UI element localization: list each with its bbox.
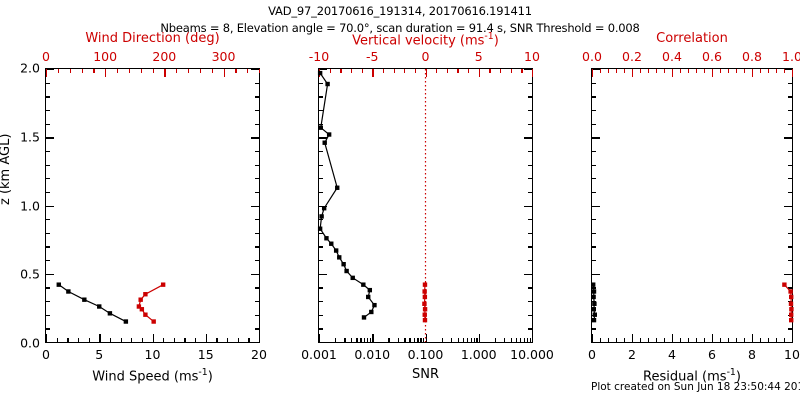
x-tick-label-top: 0.0 [582,49,602,64]
data-point-marker [151,319,155,323]
data-point-marker [789,307,793,311]
data-point-marker [341,262,345,266]
x-axis-tick-bottom [259,334,260,342]
y-axis-label: z (km AGL) [0,134,13,205]
x-tick-label-top: 200 [152,49,176,64]
data-point-marker [789,313,793,317]
x-tick-label-top: 10 [524,49,540,64]
data-point-marker [592,307,596,311]
y-axis-tick [319,342,327,343]
plot-title-line-1: VAD_97_20170616_191314, 20170616.191411 [0,4,800,18]
x-axis-tick-top [792,69,793,77]
y-axis-tick [524,342,532,343]
y-tick-label: 0.5 [2,267,40,282]
x-tick-label-bottom: 10.000 [510,347,554,362]
data-point-marker [124,319,128,323]
data-point-marker [66,289,70,293]
data-point-marker [143,292,147,296]
y-axis-tick [46,342,54,343]
x-axis-title-top: Wind Direction (deg) [45,31,260,46]
panel-residual [591,68,793,343]
y-axis-tick [784,342,792,343]
x-tick-label-bottom: 0.001 [301,347,337,362]
x-axis-title-bottom: SNR [318,367,533,382]
y-tick-label: 2.0 [2,61,40,76]
x-tick-label-top: 0.6 [702,49,722,64]
data-point-marker [325,82,329,86]
x-axis-title-bottom: Wind Speed (ms-1) [45,367,260,384]
data-point-marker [319,214,323,218]
data-point-marker [372,303,376,307]
data-point-marker [161,282,165,286]
data-point-marker [82,297,86,301]
y-axis-tick [251,342,259,343]
data-point-marker [423,307,427,311]
x-axis-title-top: Correlation [591,31,793,46]
plot-area-residual [592,69,792,342]
data-point-marker [319,125,323,129]
x-tick-label-top: -10 [309,49,329,64]
x-tick-label-top: 0.2 [622,49,642,64]
data-point-marker [423,313,427,317]
data-point-marker [592,289,596,293]
y-tick-label: 1.5 [2,129,40,144]
y-axis-tick [592,342,600,343]
data-point-marker [593,313,597,317]
data-point-marker [368,288,372,292]
data-point-marker [366,295,370,299]
data-point-marker [422,302,426,306]
x-tick-label-bottom: 10 [784,347,800,362]
series-line [320,73,374,317]
data-point-marker [108,311,112,315]
x-tick-label-bottom: 10 [145,347,161,362]
data-point-marker [143,313,147,317]
x-tick-label-bottom: 1.000 [461,347,497,362]
x-tick-label-top: 300 [212,49,236,64]
x-tick-label-bottom: 5 [95,347,103,362]
x-tick-label-top: 100 [93,49,117,64]
data-point-marker [324,236,328,240]
data-point-marker [362,315,366,319]
x-tick-label-top: 1.0 [782,49,800,64]
data-point-marker [423,318,427,322]
x-tick-label-top: 5 [475,49,483,64]
x-axis-tick-bottom [792,334,793,342]
data-point-marker [329,242,333,246]
series-canvas [319,69,532,342]
x-axis-tick-bottom [532,334,533,342]
data-point-marker [351,276,355,280]
x-tick-label-bottom: 0.010 [354,347,390,362]
x-axis-tick-top [259,69,260,73]
data-point-marker [789,295,793,299]
data-point-marker [318,227,322,231]
x-tick-label-bottom: 6 [708,347,716,362]
data-point-marker [335,186,339,190]
data-point-marker [789,302,793,306]
x-tick-label-bottom: 2 [628,347,636,362]
data-point-marker [592,302,596,306]
data-point-marker [422,289,426,293]
data-point-marker [344,269,348,273]
data-point-marker [97,304,101,308]
vad-plot-figure: VAD_97_20170616_191314, 20170616.191411 … [0,0,800,400]
data-point-marker [789,318,793,322]
data-point-marker [369,310,373,314]
data-point-marker [788,289,792,293]
x-tick-label-top: 0 [42,49,50,64]
plot-area-snr [319,69,532,342]
data-point-marker [322,206,326,210]
plot-area-wind-speed [46,69,259,342]
x-tick-label-bottom: 0 [588,347,596,362]
series-canvas [592,69,792,342]
y-tick-label: 0.0 [2,336,40,351]
data-point-marker [337,255,341,259]
x-tick-label-bottom: 4 [668,347,676,362]
data-point-marker [327,132,331,136]
data-point-marker [140,307,144,311]
x-tick-label-bottom: 8 [748,347,756,362]
data-point-marker [423,282,427,286]
data-point-marker [361,282,365,286]
data-point-marker [318,71,322,75]
x-tick-label-top: 0.8 [742,49,762,64]
x-tick-label-top: 0.4 [662,49,682,64]
y-tick-label: 1.0 [2,198,40,213]
x-tick-label-bottom: 0.100 [408,347,444,362]
data-point-marker [57,282,61,286]
data-point-marker [782,282,786,286]
data-point-marker [592,318,596,322]
x-tick-label-top: 0 [422,49,430,64]
x-tick-label-top: -5 [366,49,378,64]
x-axis-title-top: Vertical velocity (ms-1) [318,31,533,48]
data-point-marker [334,248,338,252]
panel-wind-speed [45,68,260,343]
x-axis-tick-top [532,69,533,77]
x-tick-label-bottom: 20 [251,347,267,362]
x-axis-title-bottom: Residual (ms-1) [591,367,793,384]
data-point-marker [138,297,142,301]
data-point-marker [591,282,595,286]
series-canvas [46,69,259,342]
data-point-marker [323,141,327,145]
x-tick-label-bottom: 15 [198,347,214,362]
x-tick-label-bottom: 0 [42,347,50,362]
series-line [139,285,163,322]
data-point-marker [591,295,595,299]
data-point-marker [423,295,427,299]
panel-snr [318,68,533,343]
